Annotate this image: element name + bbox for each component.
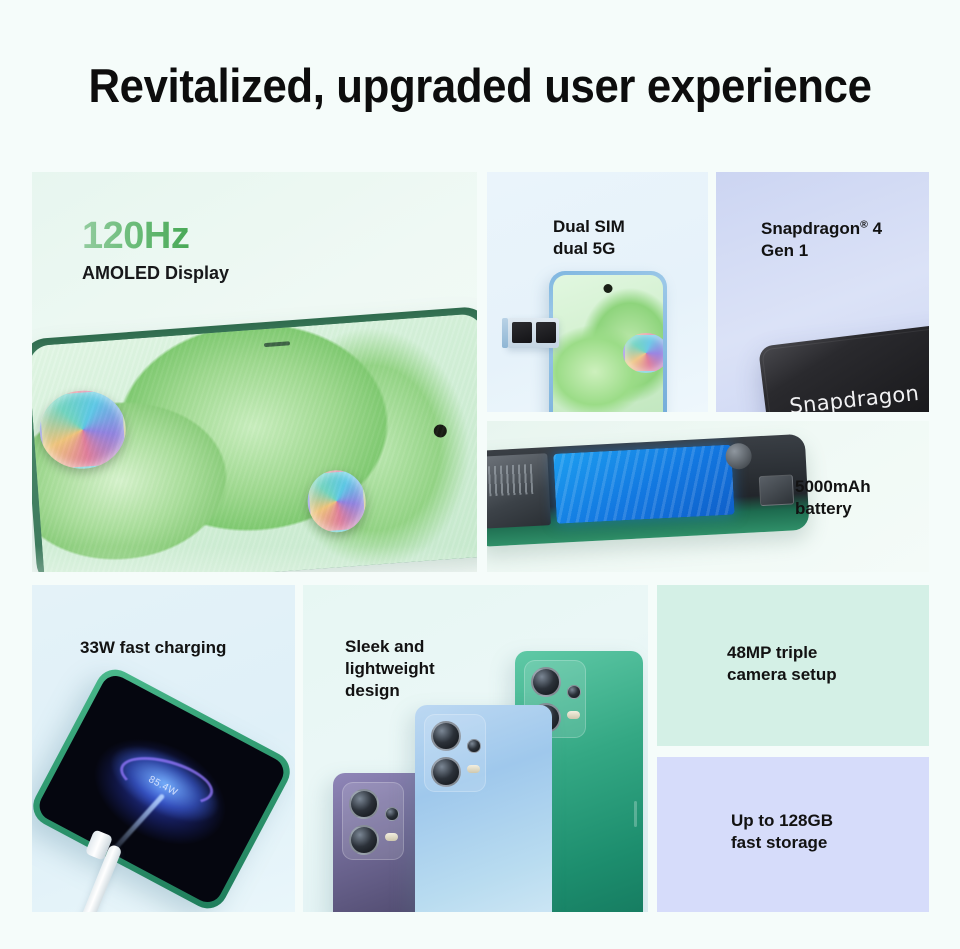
tile-fade — [32, 546, 477, 572]
snapdragon-chip-image: Snapdragon 4 Gen 1 — [758, 323, 929, 412]
dual-sim-phone-screen — [553, 275, 663, 412]
page-title: Revitalized, upgraded user experience — [34, 58, 927, 113]
camera-flash-icon — [467, 765, 480, 773]
camera-lens-icon — [431, 757, 461, 787]
sim-card-icon — [536, 322, 556, 343]
chip-module-icon — [759, 474, 795, 506]
feature-tile-chipset: Snapdragon 4 Gen 1 — [716, 172, 929, 412]
design-label-line3: design — [345, 681, 400, 700]
camera-lens-icon — [349, 789, 379, 819]
phone-back-blue — [415, 705, 552, 912]
earpiece-icon — [264, 341, 290, 347]
battery-label: 5000mAh battery — [795, 476, 871, 520]
chipset-label-line2: Gen 1 — [761, 241, 808, 260]
iridescent-sphere-icon — [305, 468, 367, 534]
battery-label-line2: battery — [795, 499, 852, 518]
camera-label-line1: 48MP triple — [727, 643, 817, 662]
chipset-label: Snapdragon® 4 Gen 1 — [761, 218, 882, 262]
feature-tile-dual-sim — [487, 172, 708, 412]
camera-module — [342, 782, 404, 860]
display-refresh-rate-label: 120Hz — [82, 212, 189, 261]
storage-label-line2: fast storage — [731, 833, 827, 852]
camera-label: 48MP triple camera setup — [727, 642, 837, 686]
design-label-line2: lightweight — [345, 659, 435, 678]
battery-label-capacity: 5000mAh — [795, 477, 871, 496]
battery-phone-image — [487, 434, 810, 547]
camera-lens-icon — [467, 739, 481, 753]
front-camera-icon — [604, 284, 613, 293]
camera-label-line2: camera setup — [727, 665, 837, 684]
feature-tile-design — [303, 585, 648, 912]
camera-module — [424, 714, 486, 792]
camera-lens-icon — [349, 825, 379, 855]
front-camera-icon — [433, 424, 447, 438]
design-label: Sleek and lightweight design — [345, 636, 435, 701]
battery-cell-icon — [553, 445, 734, 524]
chipset-label-tier: 4 — [868, 219, 882, 238]
camera-flash-icon — [567, 711, 580, 719]
camera-lens-icon — [431, 721, 461, 751]
dual-sim-label: Dual SIM dual 5G — [553, 216, 625, 260]
sim-card-icon — [512, 322, 532, 343]
feature-tile-charging: 85.4W — [32, 585, 295, 912]
sim-tray-icon — [507, 318, 559, 348]
iridescent-sphere-icon — [623, 333, 663, 373]
display-panel-label: AMOLED Display — [82, 262, 229, 285]
charging-phone-screen: 85.4W — [34, 671, 288, 908]
dual-sim-label-line1: Dual SIM — [553, 217, 625, 236]
camera-ring-icon — [725, 443, 752, 470]
product-feature-grid: Revitalized, upgraded user experience 12… — [0, 0, 960, 949]
display-phone-image — [32, 306, 477, 572]
dual-sim-label-line2: dual 5G — [553, 239, 615, 258]
camera-flash-icon — [385, 833, 398, 841]
display-phone-screen — [32, 313, 477, 572]
camera-lens-icon — [531, 667, 561, 697]
charging-phone-image: 85.4W — [32, 663, 295, 912]
mainboard-icon — [487, 453, 551, 528]
storage-label: Up to 128GB fast storage — [731, 810, 833, 854]
charging-label: 33W fast charging — [80, 637, 226, 659]
power-button-icon — [634, 801, 637, 827]
camera-lens-icon — [567, 685, 581, 699]
camera-lens-icon — [385, 807, 399, 821]
chip-brand-label: Snapdragon — [788, 381, 920, 412]
chipset-label-brand: Snapdragon — [761, 219, 860, 238]
iridescent-sphere-icon — [37, 388, 128, 472]
dual-sim-phone-image — [549, 271, 667, 412]
design-label-line1: Sleek and — [345, 637, 424, 656]
registered-trademark-icon: ® — [860, 218, 868, 230]
storage-label-line1: Up to 128GB — [731, 811, 833, 830]
